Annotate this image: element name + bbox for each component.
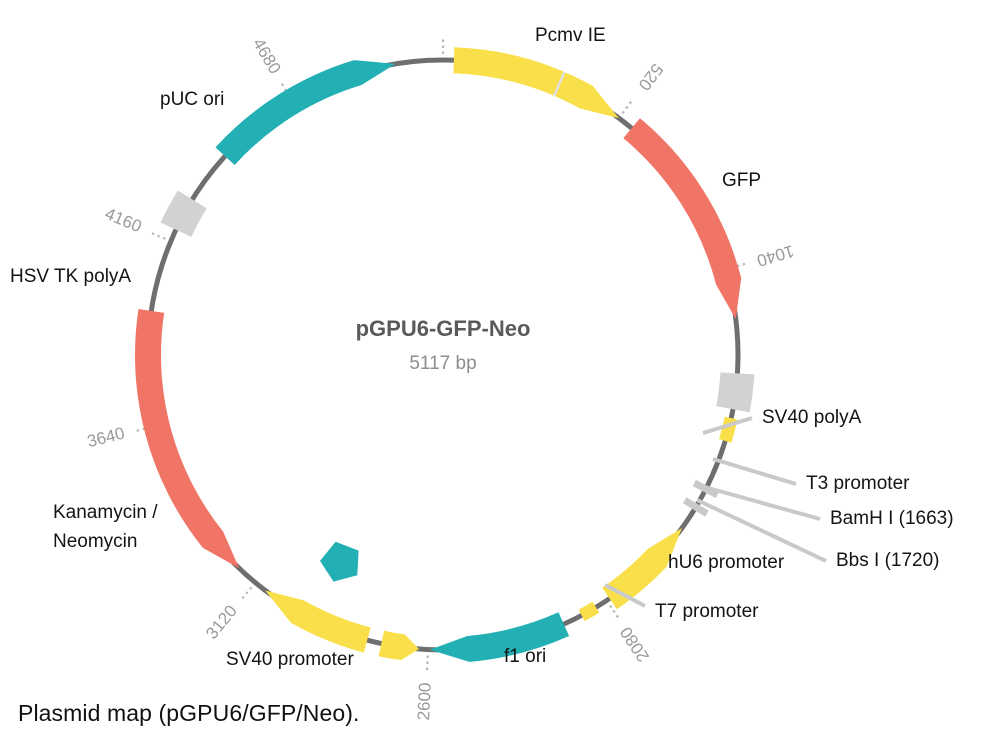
feature-label-hu6-promoter: hU6 promoter [668, 552, 785, 573]
feature-label-f1-ori: f1 ori [504, 646, 546, 667]
feature-label-puc-ori: pUC ori [160, 89, 224, 110]
feature-label-bamh-i-1663: BamH I (1663) [830, 508, 954, 529]
tick-label-3120: 3120 [202, 601, 241, 642]
feature-unnamed[interactable] [379, 631, 419, 660]
plasmid-diagram: 5201040208026003120364041604680 Pcmv IEG… [0, 0, 982, 744]
feature-puc-ori[interactable] [215, 60, 395, 165]
feature-sv40-promoter[interactable] [265, 590, 370, 652]
tick-mark [151, 233, 166, 239]
tick-mark [622, 101, 632, 114]
feature-label-kanamycin-neomycin: Kanamycin /Neomycin [53, 502, 158, 552]
feature-label-bbs-i-1720: Bbs I (1720) [836, 550, 940, 571]
standalone-shapes-group [320, 542, 359, 582]
feature-sv40-polya[interactable] [716, 372, 754, 412]
leader-line-bamh-i-1663 [701, 486, 820, 519]
leader-line-t3-promoter [713, 459, 796, 484]
feature-gfp[interactable] [623, 118, 741, 319]
plasmid-name-title: pGPU6-GFP-Neo [356, 316, 531, 341]
tick-label-2600: 2600 [414, 682, 435, 721]
plasmid-size-label: 5117 bp [409, 353, 476, 374]
feature-label-pcmv-ie: Pcmv IE [535, 25, 606, 46]
feature-label-sv40-polya: SV40 polyA [762, 407, 862, 428]
feature-f1-ori[interactable] [430, 612, 569, 662]
feature-label-sv40-promoter: SV40 promoter [226, 649, 354, 670]
tick-label-2080: 2080 [616, 623, 653, 665]
tick-mark [241, 587, 251, 599]
tick-mark [427, 656, 428, 672]
feature-label-t7-promoter: T7 promoter [655, 601, 759, 622]
feature-label-t3-promoter: T3 promoter [806, 473, 910, 494]
tick-label-4160: 4160 [102, 204, 144, 236]
feature-pcmv-ie[interactable] [453, 47, 618, 118]
feature-t3-promoter[interactable] [719, 417, 738, 443]
tick-label-1040: 1040 [755, 241, 797, 270]
feature-kanamycin-neomycin[interactable] [135, 309, 239, 568]
tick-label-4680: 4680 [249, 35, 285, 77]
figure-caption: Plasmid map (pGPU6/GFP/Neo). [18, 700, 360, 727]
feature-label-hsv-tk-polya: HSV TK polyA [10, 266, 131, 287]
feature-label-gfp: GFP [722, 170, 761, 191]
plasmid-map-figure: 5201040208026003120364041604680 Pcmv IEG… [0, 0, 982, 744]
unlabeled-pentagon[interactable] [320, 542, 359, 582]
tick-label-3640: 3640 [85, 424, 126, 452]
feature-hsv-tk-polya[interactable] [161, 191, 207, 237]
tick-label-520: 520 [635, 60, 667, 94]
